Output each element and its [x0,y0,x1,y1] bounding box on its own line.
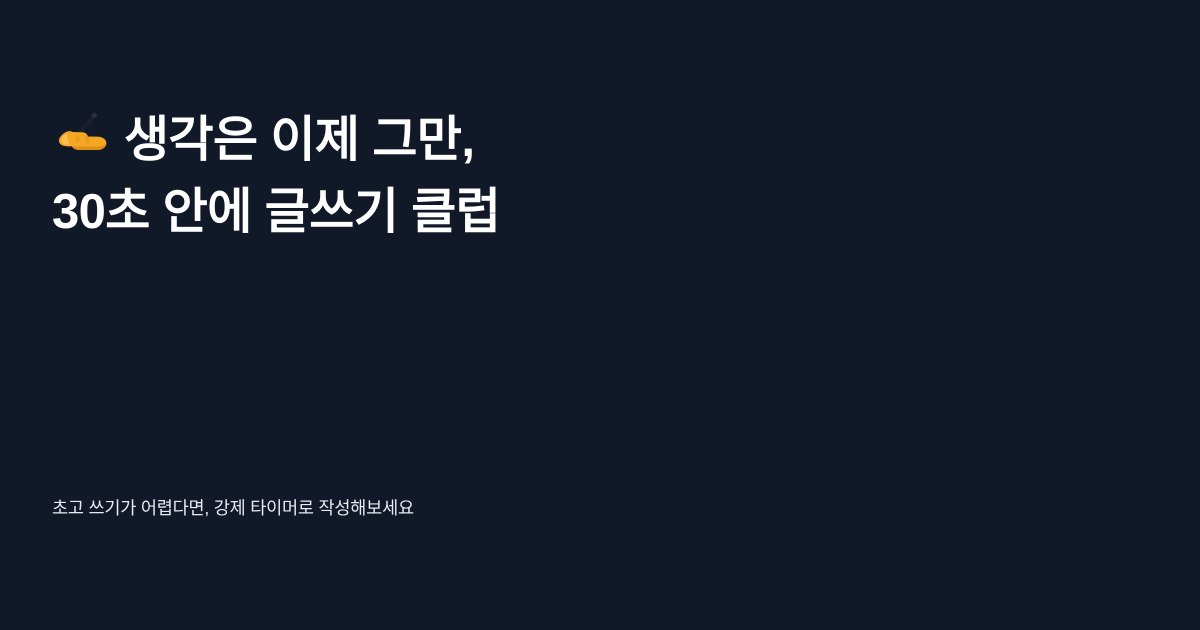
subtitle-text: 초고 쓰기가 어렵다면, 강제 타이머로 작성해보세요 [52,497,414,519]
headline-line-2-text: 30초 안에 글쓰기 클럽 [52,185,500,239]
writing-hand-icon [52,110,110,158]
headline-line-2: 30초 안에 글쓰기 클럽 [52,176,1052,248]
headline-line-1-text: 생각은 이제 그만, [124,113,474,167]
og-card: 생각은 이제 그만, 30초 안에 글쓰기 클럽 초고 쓰기가 어렵다면, 강제… [0,0,1200,630]
page-title: 생각은 이제 그만, 30초 안에 글쓰기 클럽 [52,104,1052,248]
headline-block: 생각은 이제 그만, 30초 안에 글쓰기 클럽 [52,104,1052,248]
headline-line-1: 생각은 이제 그만, [52,104,1052,176]
